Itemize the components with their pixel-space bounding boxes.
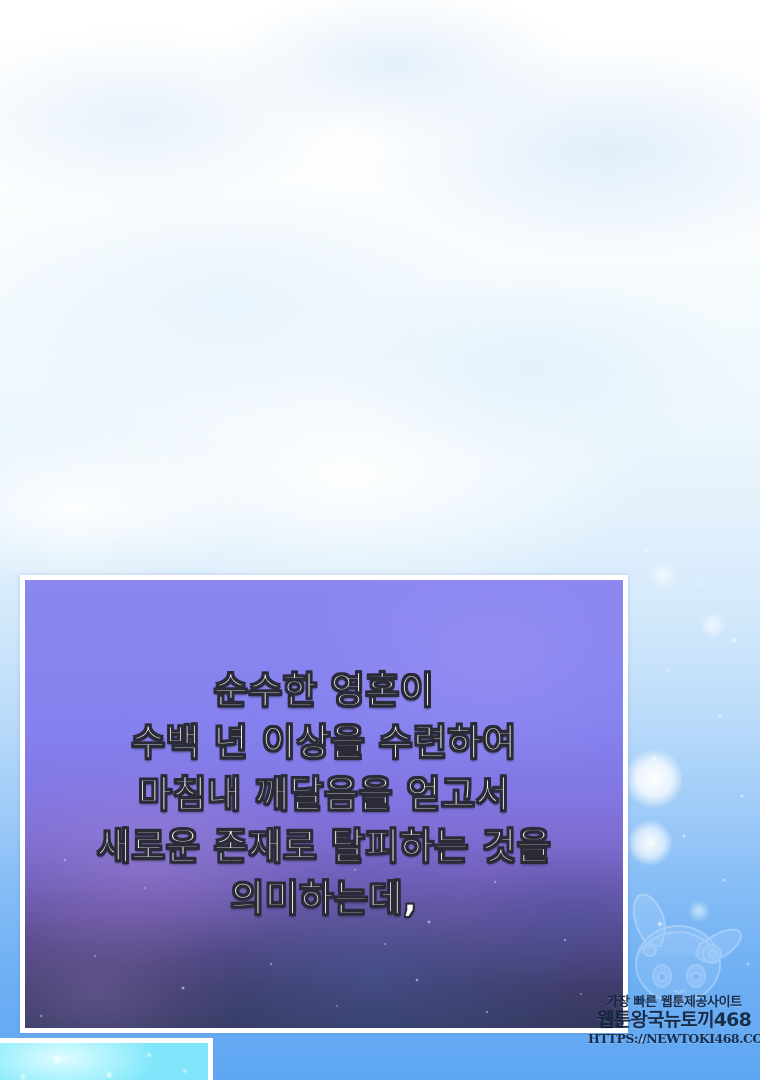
dialogue-line-5: 의미하는데,: [25, 873, 623, 925]
dialogue-line-4: 새로운 존재로 탈피하는 것을: [25, 821, 623, 873]
watermark-url: HTTPS://NEWTOKI468.COM: [588, 1032, 760, 1045]
dialogue-line-2: 수백 년 이상을 수련하여: [25, 717, 623, 769]
site-watermark: 가장 빠른 웹툰제공사이트 웹툰왕국뉴토끼468 HTTPS://NEWTOKI…: [588, 996, 760, 1045]
watermark-tagline: 가장 빠른 웹툰제공사이트: [588, 996, 760, 1010]
webtoon-page: 순수한 영혼이 수백 년 이상을 수련하여 마침내 깨달음을 얻고서 새로운 존…: [0, 0, 760, 1080]
panel-sparkles: [0, 1043, 208, 1080]
next-panel-sliver: [0, 1038, 213, 1080]
dialogue-panel: 순수한 영혼이 수백 년 이상을 수련하여 마침내 깨달음을 얻고서 새로운 존…: [20, 575, 628, 1033]
dialogue-text: 순수한 영혼이 수백 년 이상을 수련하여 마침내 깨달음을 얻고서 새로운 존…: [25, 665, 623, 925]
dialogue-line-3: 마침내 깨달음을 얻고서: [25, 769, 623, 821]
dialogue-line-1: 순수한 영혼이: [25, 665, 623, 717]
watermark-sitename: 웹툰왕국뉴토끼468: [588, 1011, 760, 1031]
